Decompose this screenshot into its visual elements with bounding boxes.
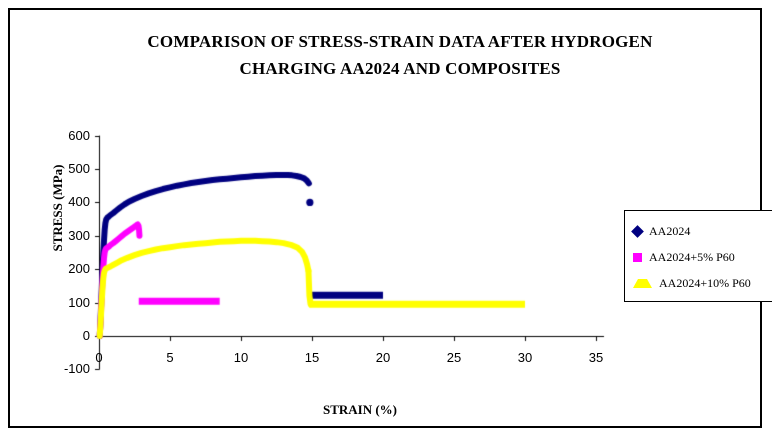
y-tick-200: 200 (38, 261, 90, 276)
y-tick-0: 0 (38, 328, 90, 343)
y-tick-600: 600 (38, 128, 90, 143)
x-tick-0: 0 (79, 350, 119, 365)
y-tick-100: 100 (38, 295, 90, 310)
legend-item-1[interactable]: AA2024+5% P60 (633, 245, 735, 269)
x-axis-title: STRAIN (%) (210, 402, 510, 418)
x-tick-20: 20 (363, 350, 403, 365)
legend-marker-square-icon (633, 253, 642, 262)
legend-label-0: AA2024 (649, 224, 690, 239)
chart-legend: AA2024AA2024+5% P60AA2024+10% P60 (624, 210, 772, 302)
y-tick-400: 400 (38, 194, 90, 209)
x-tick-15: 15 (292, 350, 332, 365)
legend-label-1: AA2024+5% P60 (649, 250, 735, 265)
legend-item-2[interactable]: AA2024+10% P60 (633, 271, 751, 295)
legend-marker-diamond-icon (631, 225, 644, 238)
x-tick-35: 35 (576, 350, 616, 365)
x-tick-5: 5 (150, 350, 190, 365)
legend-marker-triangle-icon (633, 279, 652, 288)
x-tick-30: 30 (505, 350, 545, 365)
x-tick-10: 10 (221, 350, 261, 365)
legend-label-2: AA2024+10% P60 (659, 276, 751, 291)
legend-item-0[interactable]: AA2024 (633, 219, 690, 243)
y-tick-300: 300 (38, 228, 90, 243)
x-tick-25: 25 (434, 350, 474, 365)
chart-frame: COMPARISON OF STRESS-STRAIN DATA AFTER H… (8, 8, 762, 428)
y-tick-500: 500 (38, 161, 90, 176)
